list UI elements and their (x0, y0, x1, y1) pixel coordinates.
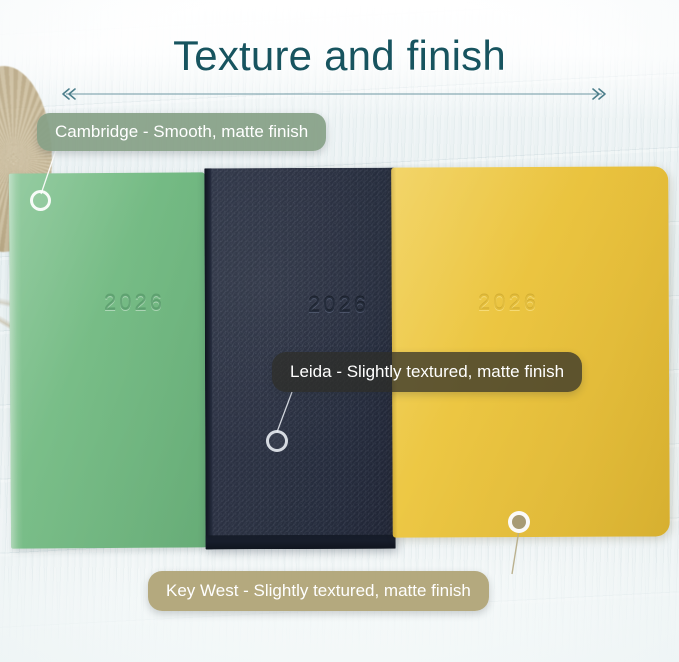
double-arrow-divider (58, 86, 610, 102)
marker-ring-leida[interactable] (266, 430, 288, 452)
page-title: Texture and finish (0, 32, 679, 80)
notebook-page-block (206, 535, 396, 550)
marker-ring-cambridge[interactable] (30, 190, 51, 211)
notebook-spine-edge (204, 168, 212, 549)
debossed-year-cambridge: 2026 (104, 290, 165, 316)
callout-label-cambridge: Cambridge - Smooth, matte finish (55, 122, 308, 142)
callout-label-leida: Leida - Slightly textured, matte finish (290, 362, 564, 382)
debossed-year-key-west: 2026 (478, 290, 539, 316)
callout-cambridge[interactable]: Cambridge - Smooth, matte finish (37, 113, 326, 151)
marker-ring-key-west[interactable] (508, 511, 530, 533)
callout-key-west[interactable]: Key West - Slightly textured, matte fini… (148, 571, 489, 611)
callout-leida[interactable]: Leida - Slightly textured, matte finish (272, 352, 582, 392)
notebook-cambridge[interactable] (9, 172, 207, 548)
callout-label-key-west: Key West - Slightly textured, matte fini… (166, 581, 471, 601)
product-feature-image: Texture and finish 2026 2026 2026 (0, 0, 679, 662)
debossed-year-leida: 2026 (308, 292, 369, 318)
